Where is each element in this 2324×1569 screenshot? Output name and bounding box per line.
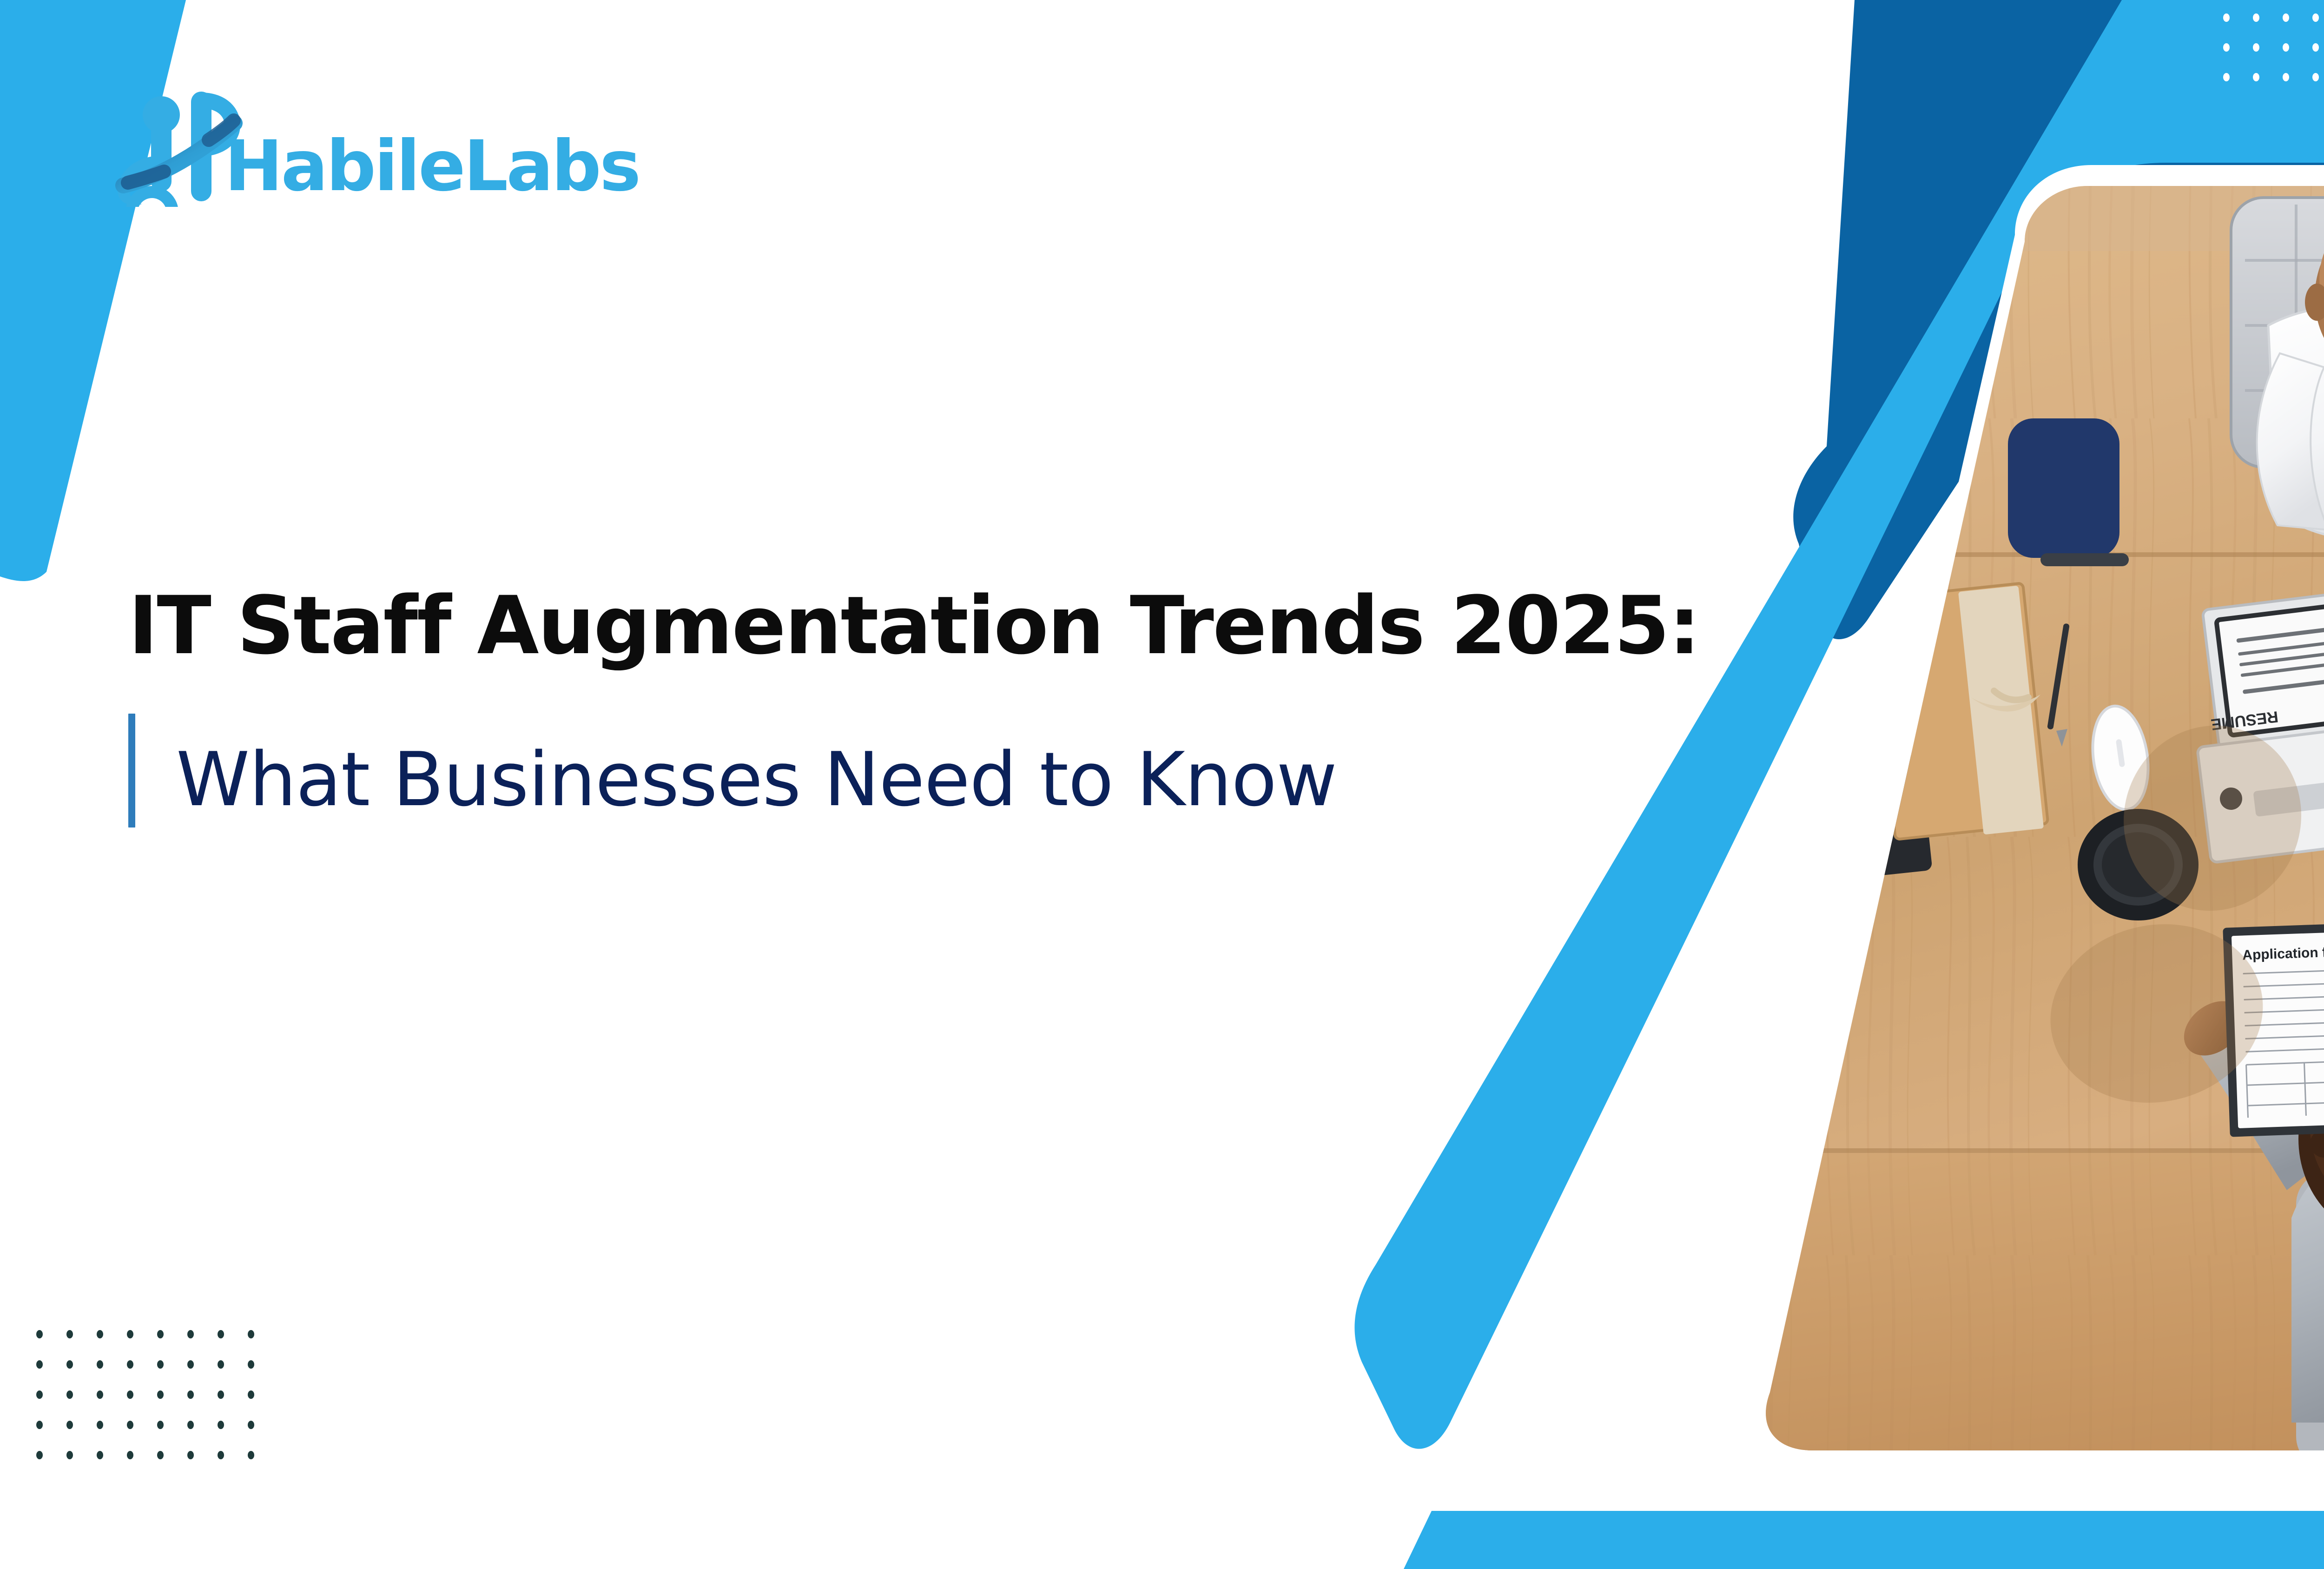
dot bbox=[218, 1360, 224, 1369]
dot bbox=[187, 1451, 194, 1459]
dot bbox=[36, 1330, 43, 1338]
banner-canvas: RESUME bbox=[0, 0, 2324, 1569]
interview-photo: RESUME bbox=[1720, 153, 2324, 1478]
dot bbox=[66, 1330, 73, 1338]
dot bbox=[248, 1360, 254, 1369]
dot bbox=[157, 1360, 164, 1369]
dot bbox=[2312, 13, 2319, 22]
dot bbox=[127, 1330, 133, 1338]
subtitle-accent-bar bbox=[128, 714, 135, 828]
dot bbox=[218, 1390, 224, 1399]
dot bbox=[157, 1330, 164, 1338]
dot bbox=[97, 1451, 103, 1459]
dot bbox=[248, 1330, 254, 1338]
dot bbox=[2312, 43, 2319, 52]
dot bbox=[2283, 73, 2289, 81]
dot bbox=[36, 1390, 43, 1399]
page-subtitle: What Businesses Need to Know bbox=[176, 714, 1337, 828]
brand-logo[interactable]: HabileLabs bbox=[109, 86, 639, 207]
dot bbox=[187, 1421, 194, 1429]
dot bbox=[66, 1360, 73, 1369]
dot bbox=[157, 1451, 164, 1459]
dot bbox=[2283, 13, 2289, 22]
navy-chair bbox=[2008, 418, 2129, 566]
dot bbox=[2253, 13, 2259, 22]
subtitle-row: What Businesses Need to Know bbox=[128, 714, 1709, 828]
dot bbox=[36, 1360, 43, 1369]
dot bbox=[218, 1330, 224, 1338]
dot bbox=[2253, 73, 2259, 81]
dot bbox=[97, 1360, 103, 1369]
dot bbox=[36, 1421, 43, 1429]
dot bbox=[2223, 43, 2230, 52]
dot bbox=[218, 1451, 224, 1459]
dot bbox=[66, 1451, 73, 1459]
dot bbox=[248, 1421, 254, 1429]
headline-block: IT Staff Augmentation Trends 2025: What … bbox=[128, 583, 1709, 828]
dot bbox=[2223, 73, 2230, 81]
dot bbox=[97, 1421, 103, 1429]
page-title: IT Staff Augmentation Trends 2025: bbox=[128, 583, 1709, 668]
dot bbox=[97, 1330, 103, 1338]
dot bbox=[187, 1360, 194, 1369]
dot bbox=[248, 1390, 254, 1399]
dot bbox=[157, 1390, 164, 1399]
dot bbox=[66, 1421, 73, 1429]
dot-grid-bottom-left bbox=[36, 1330, 254, 1459]
dot bbox=[2253, 43, 2259, 52]
dot bbox=[2223, 13, 2230, 22]
dot bbox=[218, 1421, 224, 1429]
dot bbox=[127, 1360, 133, 1369]
dot bbox=[66, 1390, 73, 1399]
dot bbox=[157, 1421, 164, 1429]
dot bbox=[2283, 43, 2289, 52]
dot bbox=[2312, 73, 2319, 81]
dot bbox=[127, 1421, 133, 1429]
brand-wordmark: HabileLabs bbox=[224, 132, 639, 201]
dot bbox=[97, 1390, 103, 1399]
dot bbox=[36, 1451, 43, 1459]
dot bbox=[248, 1451, 254, 1459]
dot bbox=[127, 1390, 133, 1399]
dot bbox=[187, 1330, 194, 1338]
dot bbox=[127, 1451, 133, 1459]
dot bbox=[187, 1390, 194, 1399]
